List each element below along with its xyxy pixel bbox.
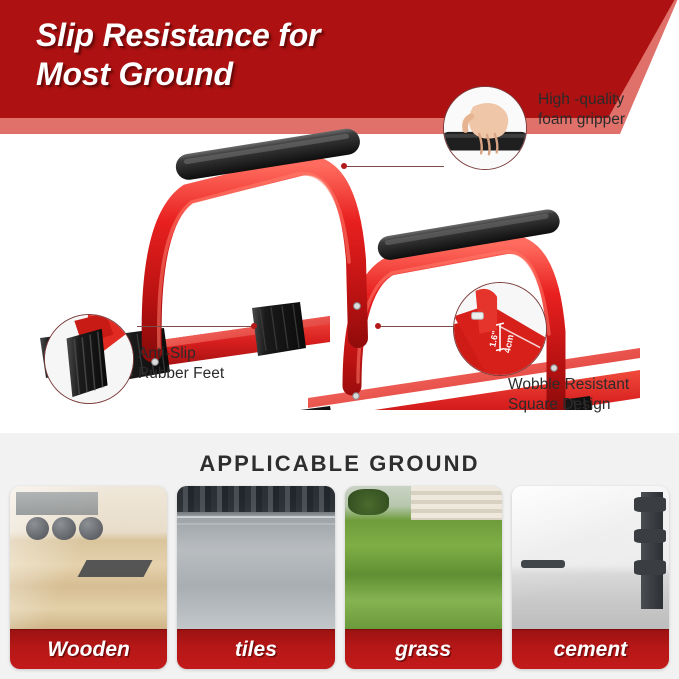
- leader-dot-wobble: [375, 323, 381, 329]
- ground-card-list: Wooden tiles: [10, 486, 669, 669]
- ground-photo-grass: [345, 486, 502, 629]
- leader-dot-feet: [251, 323, 257, 329]
- applicable-ground-section: APPLICABLE GROUND Wooden: [0, 433, 679, 679]
- ground-card-tiles[interactable]: tiles: [177, 486, 334, 669]
- banner-headline-line1: Slip Resistance for: [36, 17, 320, 53]
- callout-circle-rubber-feet: [44, 314, 134, 404]
- callout-label-rubber-feet: Anti-Slip Rubber Feet: [138, 344, 278, 384]
- ground-photo-tiles: [177, 486, 334, 629]
- leader-line-gripper: [344, 166, 444, 167]
- callout-circle-foam-gripper: [443, 86, 527, 170]
- ground-card-wooden[interactable]: Wooden: [10, 486, 167, 669]
- ground-card-cement[interactable]: cement: [512, 486, 669, 669]
- banner-headline-line2: Most Ground: [36, 55, 456, 94]
- ground-label-grass: grass: [345, 629, 502, 669]
- ground-card-grass[interactable]: grass: [345, 486, 502, 669]
- banner-headline: Slip Resistance for Most Ground: [36, 16, 456, 94]
- ground-label-wooden: Wooden: [10, 629, 167, 669]
- callout-label-wobble-resistant: Wobble Resistant Square Design: [508, 375, 673, 415]
- callout-label-foam-gripper: High -quality foam gripper: [538, 90, 668, 130]
- hero-section: Slip Resistance for Most Ground: [0, 0, 679, 433]
- leader-dot-gripper: [341, 163, 347, 169]
- ground-label-tiles: tiles: [177, 629, 334, 669]
- applicable-ground-title: APPLICABLE GROUND: [0, 451, 679, 477]
- callout-circle-wobble-resistant: 1.6" 4cm: [453, 282, 547, 376]
- ground-photo-wooden: [10, 486, 167, 629]
- leader-line-wobble: [378, 326, 456, 327]
- product-infographic: Slip Resistance for Most Ground: [0, 0, 679, 679]
- ground-label-cement: cement: [512, 629, 669, 669]
- leader-line-feet: [137, 326, 254, 327]
- ground-photo-cement: [512, 486, 669, 629]
